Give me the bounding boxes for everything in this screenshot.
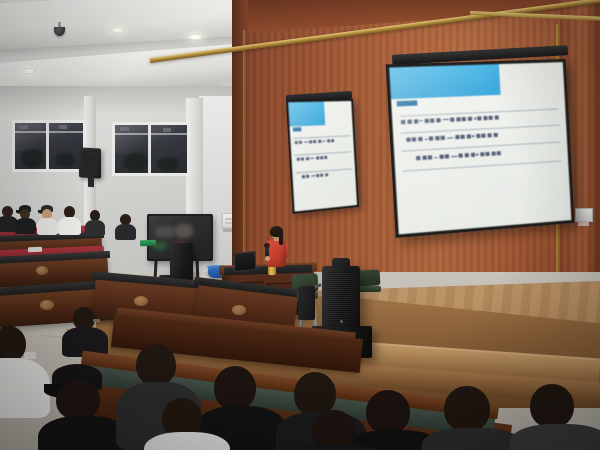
projection-screen-main-surface bbox=[389, 62, 571, 234]
projection-screen-small-surface bbox=[288, 101, 357, 212]
downlight bbox=[188, 34, 203, 40]
screen-glare bbox=[389, 62, 571, 234]
speaker-grille bbox=[326, 272, 356, 324]
downlight bbox=[22, 68, 36, 74]
speaker-presenter bbox=[264, 227, 288, 272]
window-right bbox=[112, 122, 190, 176]
desk-emblem bbox=[232, 305, 246, 315]
projection-screen-main[interactable] bbox=[386, 59, 575, 238]
screen-glare bbox=[288, 101, 357, 212]
laptop[interactable] bbox=[234, 251, 257, 272]
desk-emblem bbox=[134, 296, 148, 306]
speaker-grille bbox=[81, 151, 98, 176]
microphone-capsule bbox=[264, 243, 270, 248]
desk-emblem bbox=[36, 266, 48, 275]
paper-on-desk bbox=[28, 247, 42, 252]
eyeglasses-icon bbox=[24, 352, 36, 359]
downlight bbox=[110, 27, 125, 33]
speaker-bracket bbox=[88, 176, 94, 187]
presenter-ponytail bbox=[279, 233, 283, 245]
green-item-on-desk bbox=[140, 240, 156, 247]
stage-speaker-small-right bbox=[298, 286, 315, 320]
wall-outlet-panel[interactable] bbox=[575, 208, 593, 222]
lecture-hall-photo bbox=[0, 0, 600, 450]
wall-label bbox=[578, 222, 589, 226]
speaker-led-icon bbox=[340, 320, 343, 323]
presenter-dress bbox=[267, 239, 286, 267]
desk-emblem bbox=[40, 300, 54, 310]
presenter-hand bbox=[265, 256, 270, 261]
window-left bbox=[12, 120, 86, 172]
projection-screen-small[interactable] bbox=[286, 99, 359, 214]
